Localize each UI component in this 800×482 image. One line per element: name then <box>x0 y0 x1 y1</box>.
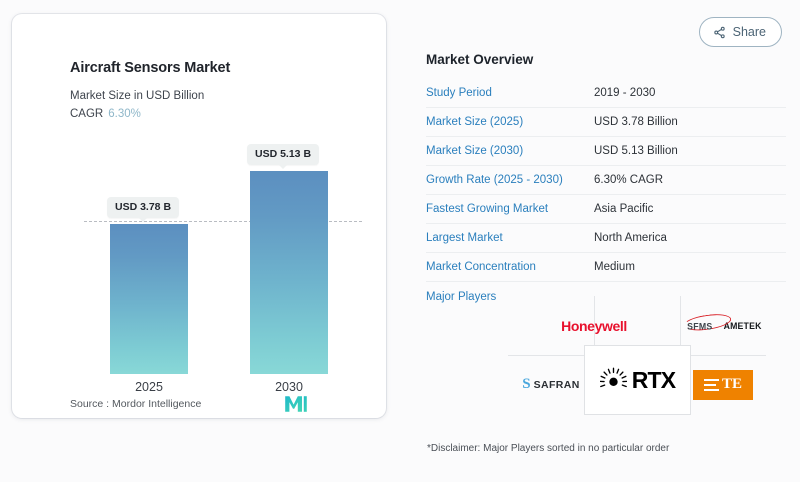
row-key: Market Size (2025) <box>426 116 594 128</box>
row-key: Growth Rate (2025 - 2030) <box>426 174 594 186</box>
logo-te-connectivity[interactable]: TE <box>680 355 766 415</box>
market-overview-table: Study Period 2019 - 2030 Market Size (20… <box>426 79 786 312</box>
bar-chart-plot-area: USD 3.78 B USD 5.13 B 2025 2030 <box>26 134 372 374</box>
table-row: Market Concentration Medium <box>426 253 786 282</box>
row-key: Study Period <box>426 87 594 99</box>
logo-safran[interactable]: S SAFRAN <box>508 355 594 415</box>
honeywell-logo-text: Honeywell <box>561 318 627 334</box>
rtx-logo-text: RTX <box>632 369 676 392</box>
x-axis-tick-2030: 2030 <box>250 380 328 394</box>
logo-sfms-ametek[interactable]: SFMS AMETEK <box>680 296 766 356</box>
cagr-label: CAGR <box>70 108 103 120</box>
bar-2030[interactable] <box>250 171 328 374</box>
share-button[interactable]: Share <box>699 17 782 47</box>
cagr-value: 6.30% <box>108 108 141 120</box>
sfms-logo-text: SFMS <box>687 322 712 332</box>
row-value: 2019 - 2030 <box>594 87 655 99</box>
source-text: Source : Mordor Intelligence <box>70 398 201 410</box>
disclaimer-text: *Disclaimer: Major Players sorted in no … <box>427 443 669 454</box>
market-overview-title: Market Overview <box>426 52 533 67</box>
safran-logo-text: SAFRAN <box>534 379 580 391</box>
bar-label-2025: USD 3.78 B <box>107 197 179 218</box>
row-value: Asia Pacific <box>594 203 653 215</box>
table-row: Fastest Growing Market Asia Pacific <box>426 195 786 224</box>
table-row: Market Size (2030) USD 5.13 Billion <box>426 137 786 166</box>
te-logo-text: TE <box>722 377 742 392</box>
logo-rtx[interactable]: RTX <box>584 345 691 415</box>
table-row: Market Size (2025) USD 3.78 Billion <box>426 108 786 137</box>
rtx-sunburst-icon <box>600 367 627 394</box>
row-key: Market Size (2030) <box>426 145 594 157</box>
row-value: USD 3.78 Billion <box>594 116 678 128</box>
bar-label-2030: USD 5.13 B <box>247 144 319 165</box>
cagr-row: CAGR6.30% <box>70 108 141 120</box>
safran-s-mark: S <box>522 377 530 392</box>
row-key: Largest Market <box>426 232 594 244</box>
te-bars-icon <box>704 379 719 392</box>
row-value: North America <box>594 232 667 244</box>
table-row: Study Period 2019 - 2030 <box>426 79 786 108</box>
table-row: Largest Market North America <box>426 224 786 253</box>
share-nodes-icon <box>713 26 726 39</box>
bar-2025[interactable] <box>110 224 188 374</box>
chart-card: Aircraft Sensors Market Market Size in U… <box>12 14 386 418</box>
table-row: Growth Rate (2025 - 2030) 6.30% CAGR <box>426 166 786 195</box>
mordor-intelligence-logo-icon <box>284 395 308 413</box>
x-axis-tick-2025: 2025 <box>110 380 188 394</box>
row-value: Medium <box>594 261 635 273</box>
row-value: 6.30% CAGR <box>594 174 663 186</box>
sfms-logo-mark: SFMS <box>685 317 721 335</box>
row-key: Fastest Growing Market <box>426 203 594 215</box>
chart-subtitle: Market Size in USD Billion <box>70 90 204 102</box>
share-button-label: Share <box>733 25 766 39</box>
row-value: USD 5.13 Billion <box>594 145 678 157</box>
chart-title: Aircraft Sensors Market <box>70 60 230 76</box>
row-key: Market Concentration <box>426 261 594 273</box>
market-overview-page: Aircraft Sensors Market Market Size in U… <box>0 0 800 482</box>
